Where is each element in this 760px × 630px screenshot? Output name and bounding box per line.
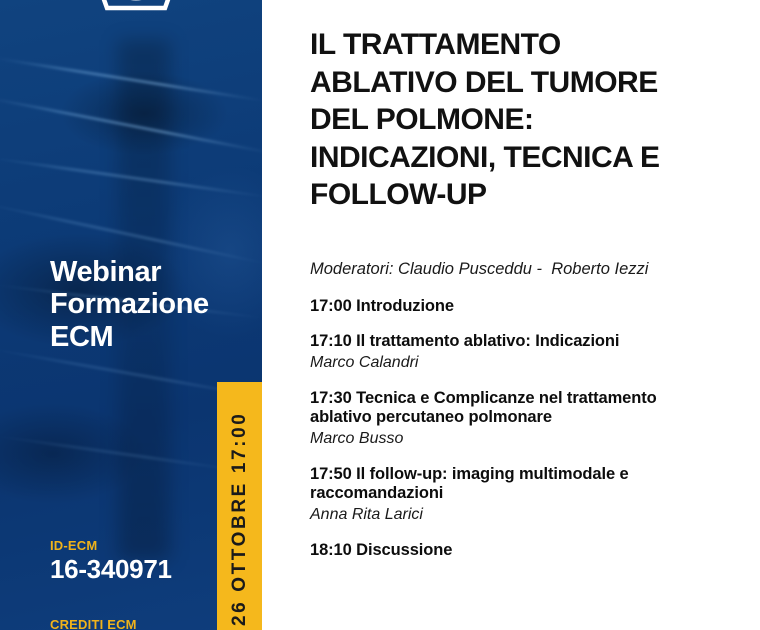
program-item: 18:10 Discussione	[310, 541, 720, 560]
program-list: 17:00 Introduzione 17:10 Il trattamento …	[310, 297, 720, 560]
program-item-heading: 17:30 Tecnica e Complicanze nel trattame…	[310, 389, 720, 428]
program-item: 17:50 Il follow-up: imaging multimodale …	[310, 465, 720, 525]
webinar-label: Webinar Formazione ECM	[50, 256, 250, 353]
page-title: IL TRATTAMENTO ABLATIVO DEL TUMORE DEL P…	[310, 26, 710, 214]
left-blue-panel: Webinar Formazione ECM ID-ECM 16-340971 …	[0, 0, 262, 630]
webinar-poster: Webinar Formazione ECM ID-ECM 16-340971 …	[0, 0, 760, 630]
hexagon-society-logo-icon	[77, 0, 195, 26]
id-ecm-value: 16-340971	[50, 554, 172, 585]
program-item-heading: 17:00 Introduzione	[310, 297, 720, 316]
main-content: IL TRATTAMENTO ABLATIVO DEL TUMORE DEL P…	[310, 0, 730, 630]
date-strip: 26 OTTOBRE 17:00	[217, 382, 262, 630]
program-item: 17:30 Tecnica e Complicanze nel trattame…	[310, 389, 720, 449]
program-item: 17:00 Introduzione	[310, 297, 720, 316]
date-strip-text: 26 OTTOBRE 17:00	[217, 382, 262, 630]
program-item-heading: 17:10 Il trattamento ablativo: Indicazio…	[310, 332, 720, 351]
moderators-line: Moderatori: Claudio Pusceddu - Roberto I…	[310, 259, 710, 280]
program-item-heading: 18:10 Discussione	[310, 541, 720, 560]
crediti-ecm-label: CREDITI ECM	[50, 617, 137, 630]
program-item-speaker: Marco Busso	[310, 429, 720, 449]
program-item: 17:10 Il trattamento ablativo: Indicazio…	[310, 332, 720, 372]
program-item-heading: 17:50 Il follow-up: imaging multimodale …	[310, 465, 720, 504]
program-item-speaker: Marco Calandri	[310, 353, 720, 373]
id-ecm-label: ID-ECM	[50, 538, 97, 553]
program-item-speaker: Anna Rita Larici	[310, 505, 720, 525]
